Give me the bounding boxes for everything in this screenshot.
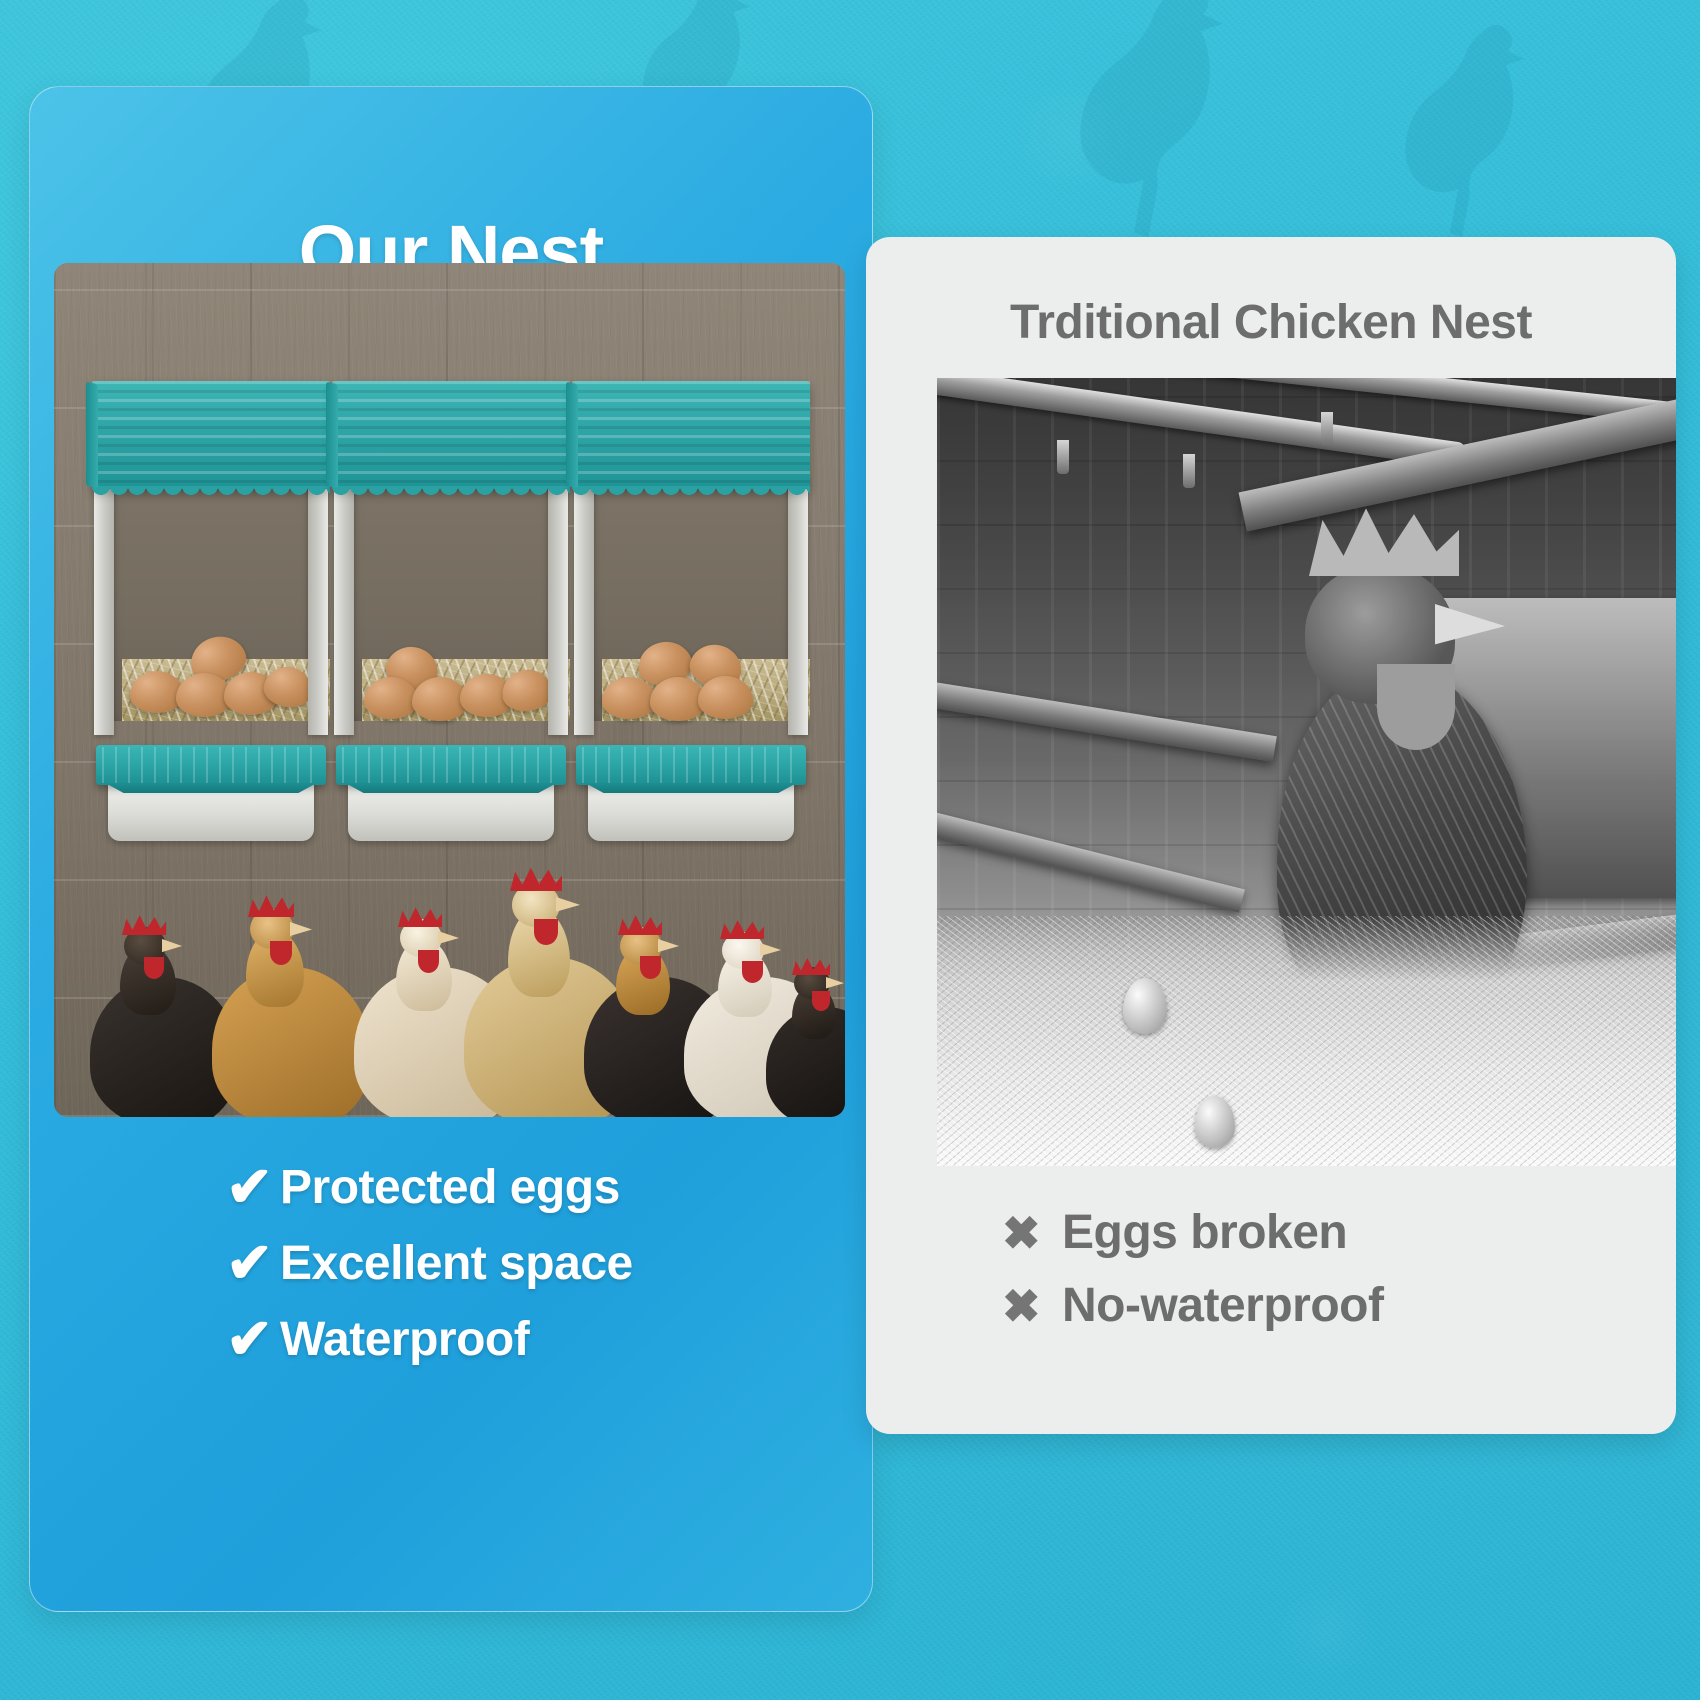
drinker-nipple — [1321, 412, 1333, 446]
cons-list: ✖ Eggs broken ✖ No-waterproof — [866, 1205, 1676, 1351]
drinker-nipple — [1183, 454, 1195, 488]
hen-wattle — [144, 957, 164, 979]
hen-wattle — [418, 950, 439, 973]
our-nest-card: Our Nest — [29, 86, 873, 1612]
hen-comb — [1309, 504, 1459, 576]
hen-wattle — [534, 919, 558, 945]
con-label: Eggs broken — [1062, 1205, 1347, 1260]
chicken-watermark-icon — [1050, 0, 1290, 260]
nest-side-panel — [94, 477, 114, 735]
perch-slats — [582, 747, 800, 783]
check-icon: ✔ — [226, 1311, 280, 1367]
list-item: ✔ Protected eggs — [226, 1159, 872, 1215]
perch-slats — [102, 747, 320, 783]
perch-slats — [342, 747, 560, 783]
con-label: No-waterproof — [1062, 1278, 1383, 1333]
product-photo — [54, 263, 845, 1117]
infographic-canvas: Our Nest — [0, 0, 1700, 1700]
nest-roof — [572, 381, 810, 489]
cross-icon: ✖ — [1002, 1283, 1062, 1329]
roof-scalloped-edge — [332, 486, 570, 500]
nest-side-panel — [334, 477, 354, 735]
hen-comb — [510, 865, 562, 891]
list-item: ✔ Excellent space — [226, 1235, 872, 1291]
roof-side-fold — [326, 382, 338, 489]
chicken-watermark-icon — [1380, 10, 1580, 260]
hen-beak — [658, 939, 679, 955]
nest-side-panel — [308, 477, 328, 735]
nest-interior — [346, 477, 558, 721]
list-item: ✖ No-waterproof — [1002, 1278, 1676, 1333]
nest-compartment — [92, 381, 330, 841]
chicken-flock — [54, 827, 845, 1117]
roof-side-fold — [86, 382, 98, 489]
roof-scalloped-edge — [572, 486, 810, 500]
roof-ribs — [92, 381, 330, 489]
hen-wattle — [812, 991, 830, 1011]
hen-beak — [760, 943, 781, 959]
nest-roof — [332, 381, 570, 489]
roof-ribs — [572, 381, 810, 489]
comparison-title: Trditional Chicken Nest — [866, 299, 1676, 347]
egg — [698, 676, 753, 719]
hen-comb — [248, 893, 294, 917]
pro-label: Protected eggs — [280, 1160, 620, 1215]
hen-comb — [122, 913, 166, 935]
list-item: ✔ Waterproof — [226, 1311, 872, 1367]
roof-side-fold — [566, 382, 578, 489]
hen-wattle — [270, 941, 292, 965]
pro-label: Waterproof — [280, 1312, 529, 1367]
nest-compartment — [572, 381, 810, 841]
roof-ribs — [332, 381, 570, 489]
hen-wattle — [640, 956, 661, 979]
nest-interior — [106, 477, 318, 721]
pros-list: ✔ Protected eggs ✔ Excellent space ✔ Wat… — [30, 1159, 872, 1387]
nest-interior — [586, 477, 798, 721]
hen-wattle — [1377, 664, 1455, 750]
nest-side-panel — [788, 477, 808, 735]
egg — [602, 677, 656, 719]
landing-perch — [336, 745, 566, 785]
hen-wattle — [742, 961, 763, 983]
pro-label: Excellent space — [280, 1236, 633, 1291]
hen — [212, 912, 372, 1117]
hen-comb — [398, 905, 442, 927]
landing-perch — [96, 745, 326, 785]
egg — [364, 677, 418, 719]
nest-side-panel — [548, 477, 568, 735]
hen-comb — [720, 918, 764, 939]
hen-beak — [556, 897, 580, 915]
litter-floor — [937, 916, 1676, 1166]
traditional-nest-photo — [937, 378, 1676, 1166]
list-item: ✖ Eggs broken — [1002, 1205, 1676, 1260]
traditional-nest-card: Trditional Chicken Nest — [866, 237, 1676, 1434]
nesting-box-assembly — [92, 381, 814, 841]
roof-scalloped-edge — [92, 486, 330, 500]
hen — [766, 977, 845, 1117]
hen-beak — [162, 939, 182, 955]
nest-side-panel — [574, 477, 594, 735]
hen-beak — [290, 922, 312, 939]
check-icon: ✔ — [226, 1235, 280, 1291]
hen-beak — [438, 931, 459, 947]
drinker-nipple — [1057, 440, 1069, 474]
nest-roof — [92, 381, 330, 489]
landing-perch — [576, 745, 806, 785]
nest-compartment — [332, 381, 570, 841]
check-icon: ✔ — [226, 1159, 280, 1215]
cross-icon: ✖ — [1002, 1210, 1062, 1256]
